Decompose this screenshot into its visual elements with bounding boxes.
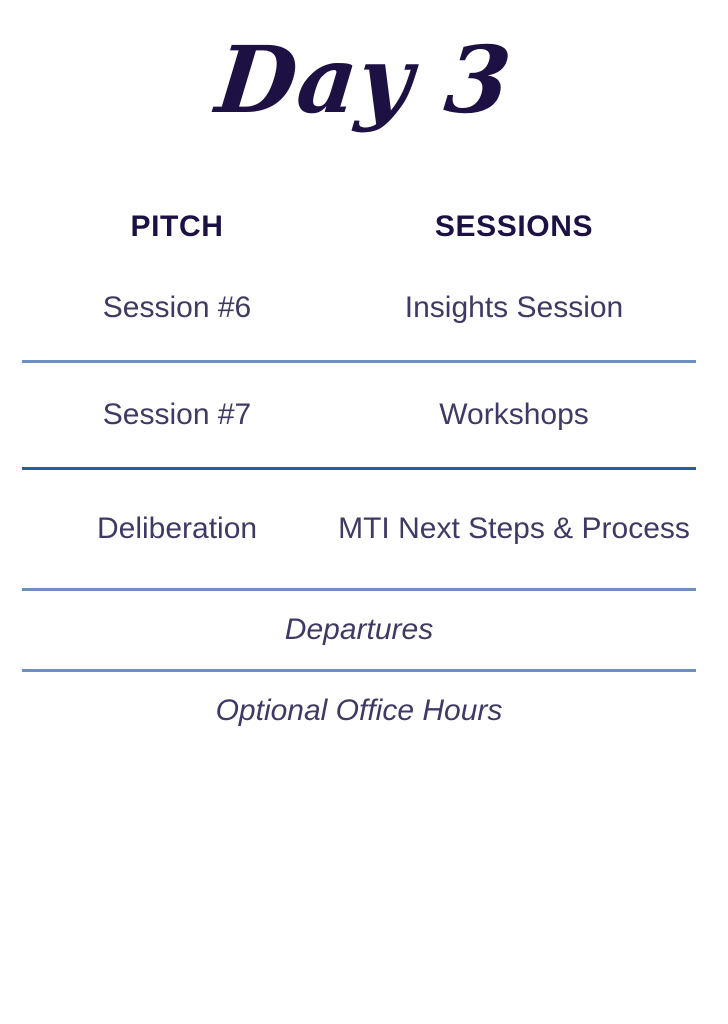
page-title: Day 3	[211, 28, 516, 134]
title-container: Day 3	[0, 28, 728, 134]
row-session-value: Insights Session	[332, 291, 696, 325]
row-pitch-value: Session #7	[22, 398, 332, 432]
table-row: Session #6 Insights Session	[22, 256, 696, 360]
table-row: Deliberation MTI Next Steps & Process	[22, 470, 696, 588]
row-session-value: MTI Next Steps & Process	[332, 512, 696, 546]
table-header-row: PITCH SESSIONS	[22, 196, 696, 256]
full-width-row-label: Departures	[22, 613, 696, 647]
column-header-sessions-cell: SESSIONS	[332, 210, 696, 243]
table-row-full-width: Departures	[22, 591, 696, 669]
table-row: Session #7 Workshops	[22, 363, 696, 467]
table-row-full-width: Optional Office Hours	[22, 672, 696, 750]
schedule-table: PITCH SESSIONS Session #6 Insights Sessi…	[22, 196, 696, 750]
column-header-pitch-cell: PITCH	[22, 210, 332, 243]
column-header-sessions: SESSIONS	[435, 210, 593, 243]
column-header-pitch: PITCH	[131, 210, 224, 243]
row-pitch-value: Deliberation	[22, 512, 332, 546]
day-agenda-card: Day 3 PITCH SESSIONS Session #6 Insights…	[0, 0, 728, 1024]
row-session-value: Workshops	[332, 398, 696, 432]
row-pitch-value: Session #6	[22, 291, 332, 325]
full-width-row-label: Optional Office Hours	[22, 694, 696, 728]
